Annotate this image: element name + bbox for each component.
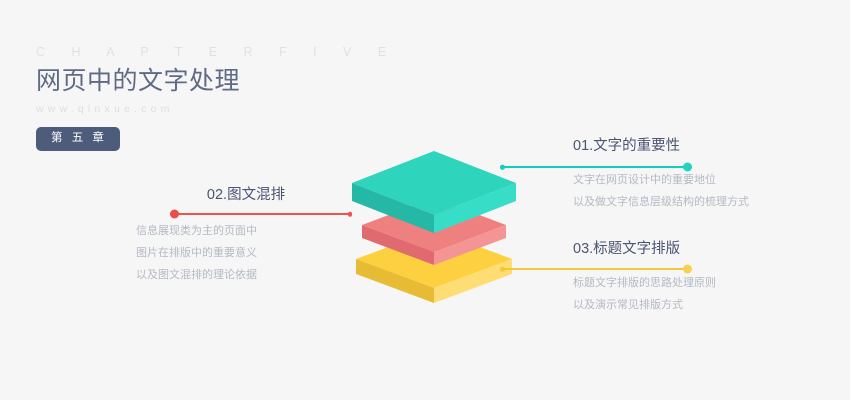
connector-dot-start-01	[500, 165, 505, 170]
info-body-02: 信息展现类为主的页面中 图片在排版中的重要意义 以及图文混排的理论依据	[136, 220, 356, 286]
chapter-badge: 第 五 章	[36, 127, 120, 151]
info-body-line: 以及图文混排的理论依据	[136, 264, 356, 286]
info-body-line: 以及演示常见排版方式	[573, 294, 716, 316]
page-title: 网页中的文字处理	[36, 66, 456, 97]
info-body-line: 图片在排版中的重要意义	[136, 242, 356, 264]
info-heading-01: 01.文字的重要性	[573, 136, 749, 156]
chapter-eyebrow-label: C H A P T E R F I V E	[36, 44, 456, 60]
info-body-line: 标题文字排版的思路处理原则	[573, 272, 716, 294]
info-body-line: 以及做文字信息层级结构的梳理方式	[573, 191, 749, 213]
info-body-01: 文字在网页设计中的重要地位 以及做文字信息层级结构的梳理方式	[573, 169, 749, 213]
connector-dot-start-03	[500, 267, 505, 272]
info-body-line: 文字在网页设计中的重要地位	[573, 169, 749, 191]
header-block: C H A P T E R F I V E 网页中的文字处理 www.qinxu…	[36, 44, 456, 151]
info-heading-02: 02.图文混排	[136, 185, 356, 205]
info-body-03: 标题文字排版的思路处理原则 以及演示常见排版方式	[573, 272, 716, 316]
info-body-line: 信息展现类为主的页面中	[136, 220, 356, 242]
slide-canvas: C H A P T E R F I V E 网页中的文字处理 www.qinxu…	[0, 0, 850, 400]
info-block-01[interactable]: 01.文字的重要性 文字在网页设计中的重要地位 以及做文字信息层级结构的梳理方式	[573, 136, 749, 213]
site-url-label: www.qinxue.com	[36, 102, 456, 116]
info-block-02[interactable]: 02.图文混排 信息展现类为主的页面中 图片在排版中的重要意义 以及图文混排的理…	[136, 185, 356, 286]
info-heading-03: 03.标题文字排版	[573, 239, 716, 259]
three-layer-stack-illustration	[344, 145, 524, 305]
info-block-03[interactable]: 03.标题文字排版 标题文字排版的思路处理原则 以及演示常见排版方式	[573, 239, 716, 316]
